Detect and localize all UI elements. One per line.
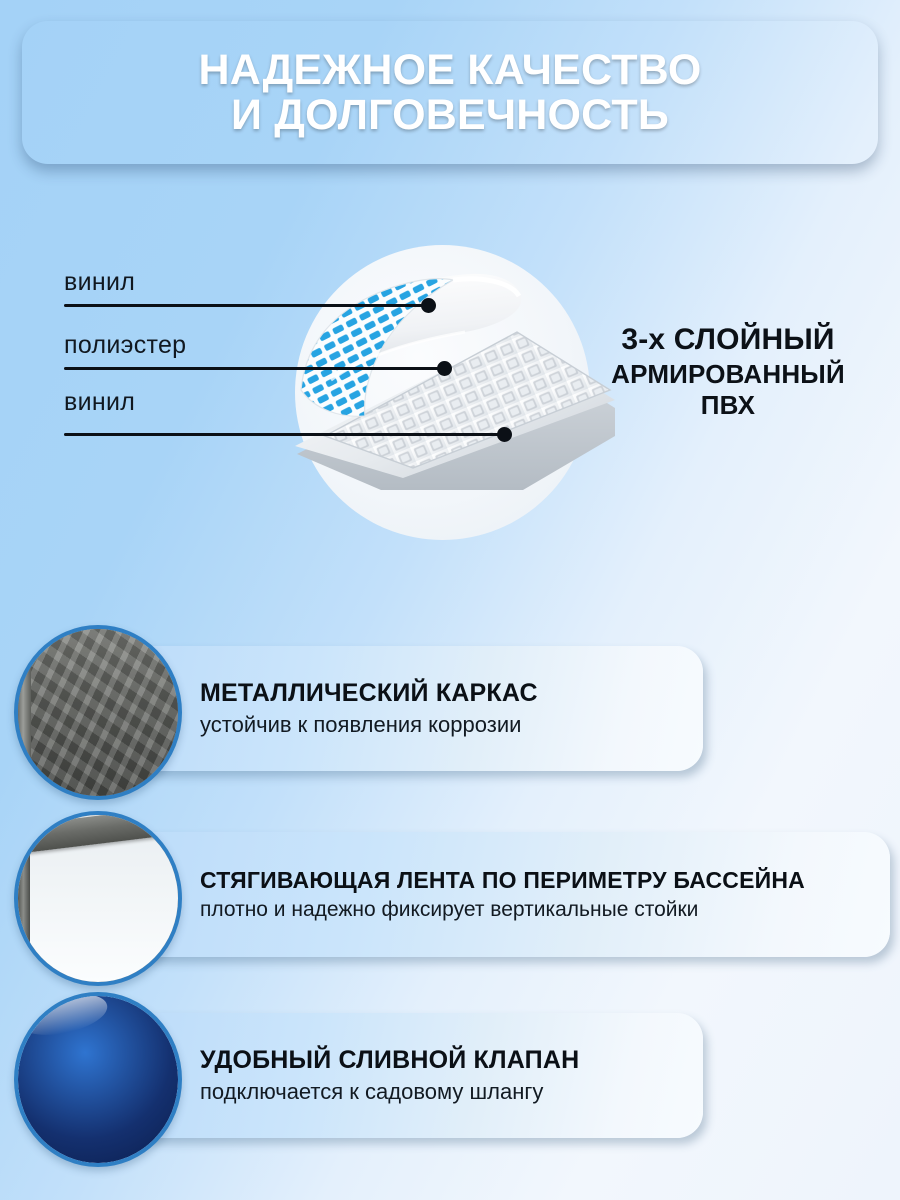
pool-strap-icon — [14, 811, 182, 986]
feature-subtitle: устойчив к появления коррозии — [200, 712, 690, 738]
feature-subtitle: плотно и надежно фиксирует вертикальные … — [200, 897, 888, 922]
pvc-fabric-illustration — [285, 240, 615, 550]
feature-row-metal-frame: МЕТАЛЛИЧЕСКИЙ КАРКАС устойчив к появлени… — [0, 646, 900, 771]
header-banner: НАДЕЖНОЕ КАЧЕСТВО И ДОЛГОВЕЧНОСТЬ — [22, 21, 878, 164]
leader-dot-vinyl-bottom — [497, 427, 512, 442]
leader-dot-polyester — [437, 361, 452, 376]
feature-text: СТЯГИВАЮЩАЯ ЛЕНТА ПО ПЕРИМЕТРУ БАССЕЙНА … — [200, 832, 888, 957]
layer-label-vinyl-top: винил — [64, 268, 135, 297]
pvc-headline-line3: ПВХ — [578, 390, 878, 422]
leader-line-vinyl-bottom — [64, 433, 504, 436]
leader-line-vinyl-top — [64, 304, 428, 307]
pool-top-rail — [18, 629, 63, 638]
leader-line-polyester — [64, 367, 444, 370]
infographic-page: НАДЕЖНОЕ КАЧЕСТВО И ДОЛГОВЕЧНОСТЬ — [0, 0, 900, 1200]
banner-title: НАДЕЖНОЕ КАЧЕСТВО И ДОЛГОВЕЧНОСТЬ — [180, 48, 719, 137]
drain-valve-icon — [14, 992, 182, 1167]
feature-text: УДОБНЫЙ СЛИВНОЙ КЛАПАН подключается к са… — [200, 1013, 690, 1138]
pvc-headline: 3-х СЛОЙНЫЙ АРМИРОВАННЫЙ ПВХ — [578, 322, 878, 422]
vertical-leg — [18, 815, 30, 962]
pvc-headline-line2: АРМИРОВАННЫЙ — [578, 359, 878, 391]
pool-vertical-post — [18, 629, 31, 796]
layer-label-vinyl-bottom: винил — [64, 388, 135, 417]
feature-title: УДОБНЫЙ СЛИВНОЙ КЛАПАН — [200, 1046, 690, 1075]
layer-label-polyester: полиэстер — [64, 331, 186, 360]
feature-title: МЕТАЛЛИЧЕСКИЙ КАРКАС — [200, 679, 690, 708]
banner-title-line2: И ДОЛГОВЕЧНОСТЬ — [198, 93, 701, 138]
pool-wall — [18, 629, 178, 796]
feature-row-drain-valve: УДОБНЫЙ СЛИВНОЙ КЛАПАН подключается к са… — [0, 1013, 900, 1138]
pvc-headline-line1: 3-х СЛОЙНЫЙ — [578, 322, 878, 359]
banner-title-line1: НАДЕЖНОЕ КАЧЕСТВО — [198, 46, 701, 94]
feature-row-strap: СТЯГИВАЮЩАЯ ЛЕНТА ПО ПЕРИМЕТРУ БАССЕЙНА … — [0, 832, 900, 957]
leg-foot — [18, 815, 54, 830]
leader-dot-vinyl-top — [421, 298, 436, 313]
pool-metal-frame-icon — [14, 625, 182, 800]
feature-text: МЕТАЛЛИЧЕСКИЙ КАРКАС устойчив к появлени… — [200, 646, 690, 771]
feature-title: СТЯГИВАЮЩАЯ ЛЕНТА ПО ПЕРИМЕТРУ БАССЕЙНА — [200, 867, 888, 893]
feature-subtitle: подключается к садовому шлангу — [200, 1079, 690, 1105]
